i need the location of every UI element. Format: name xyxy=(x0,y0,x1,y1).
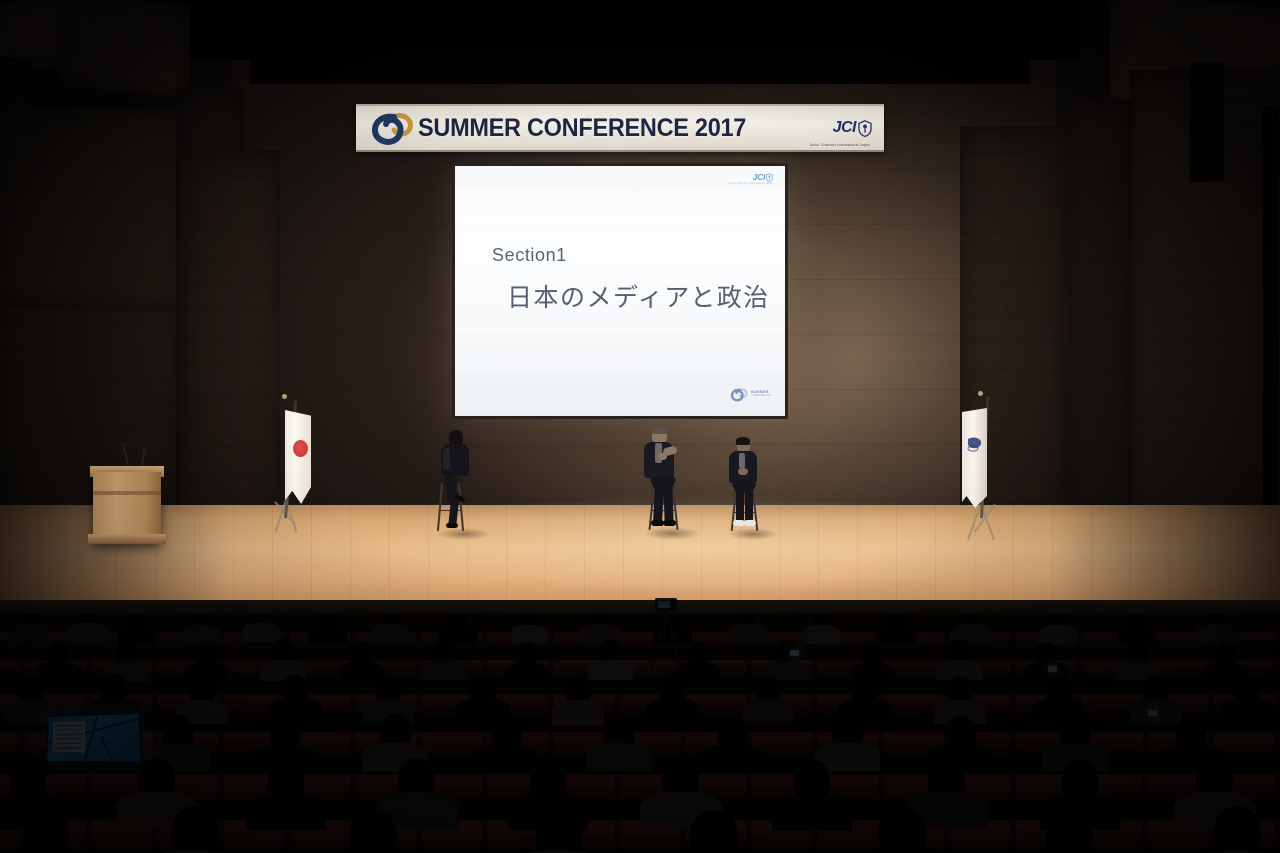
audience-shoulders xyxy=(552,700,604,725)
audience-shoulders xyxy=(308,626,348,644)
speaker-right-hair xyxy=(736,437,750,445)
audience-shoulders xyxy=(742,699,794,723)
projection-screen: JCI Junior Chamber International Japan S… xyxy=(455,166,785,416)
speaker-center-hand-mic xyxy=(658,453,667,460)
japan-flag-stand xyxy=(252,388,332,538)
audience-head xyxy=(1046,810,1092,853)
video-camera-body xyxy=(655,598,677,611)
audience-shoulders xyxy=(420,661,466,681)
audience-shoulders xyxy=(586,743,652,772)
video-camera-lcd-screen xyxy=(658,601,670,608)
speaker-left-shadow xyxy=(438,528,490,540)
speaker-right-leg-lower-left xyxy=(736,490,744,523)
banner-org-fullname: Junior Chamber International Japan xyxy=(809,143,870,147)
audience-head xyxy=(690,810,738,853)
slide-jci-logo: JCI xyxy=(753,172,773,182)
audience-shoulders xyxy=(588,660,634,680)
laptop-screen-line xyxy=(101,736,119,764)
summer-conference-swirl-icon xyxy=(370,111,414,145)
speaker-left-arm xyxy=(443,448,450,470)
audience-head xyxy=(862,642,883,665)
banner-jci-wordmark: JCI xyxy=(833,119,856,137)
audience-shoulders xyxy=(36,662,81,682)
laptop-document xyxy=(52,721,85,753)
wall-panel-right-dark-notch xyxy=(1190,62,1224,182)
speaker-right-shadow xyxy=(728,528,778,540)
japan-flag-cloth xyxy=(285,410,311,504)
audience-shoulders xyxy=(1220,698,1274,722)
stage-banner: SUMMER CONFERENCE 2017 JCI Junior Chambe… xyxy=(356,104,884,152)
wall-panel-left-angled xyxy=(0,107,184,314)
slide-footer-logo: SUMMER CONFERENCE xyxy=(730,387,771,402)
audience-area xyxy=(0,614,1280,853)
audience-shoulders xyxy=(772,794,852,831)
phone-screen-glow xyxy=(1048,666,1057,672)
speaker-right-leg-lower-right xyxy=(745,490,753,523)
jci-flag-cloth xyxy=(962,408,987,508)
conference-hall-photo: SUMMER CONFERENCE 2017 JCI Junior Chambe… xyxy=(0,0,1280,853)
audience-head xyxy=(196,642,217,665)
jci-shield-icon xyxy=(858,120,872,137)
slide-jci-wordmark: JCI xyxy=(753,172,765,182)
audience-head xyxy=(516,642,537,665)
audience-head xyxy=(190,676,215,703)
audience-shoulders xyxy=(504,663,549,684)
speaker-center-leg-lower-right xyxy=(663,485,673,523)
speaker-right xyxy=(722,438,782,540)
ceiling-shadow xyxy=(180,0,1080,60)
audience-shoulders xyxy=(1196,624,1236,642)
audience-shoulders xyxy=(372,624,410,642)
slide-jci-sublabel: Junior Chamber International Japan xyxy=(728,182,773,185)
projection-screen-frame: JCI Junior Chamber International Japan S… xyxy=(452,163,788,419)
audience-shoulders xyxy=(474,744,538,772)
jci-flag-finial xyxy=(978,391,983,396)
stool-leg xyxy=(437,483,443,531)
audience-shoulders xyxy=(728,624,768,642)
audience-head xyxy=(1216,642,1237,665)
slide-heading: 日本のメディアと政治 xyxy=(507,278,770,314)
audience-head xyxy=(536,806,582,853)
slide-section-label: Section1 xyxy=(492,245,567,266)
speaker-left-shoe xyxy=(446,523,458,528)
podium-trim xyxy=(93,491,161,495)
speaker-right-hands xyxy=(738,468,748,475)
audience-head xyxy=(566,676,591,703)
speaker-center-leg-lower-left xyxy=(653,485,664,523)
speaker-right-sneaker-right xyxy=(744,520,756,526)
audience-shoulders xyxy=(802,625,840,644)
speaker-left xyxy=(432,430,492,540)
slide-footer-logo-sub: CONFERENCE xyxy=(751,395,771,398)
jci-flag-stand xyxy=(950,388,1030,540)
audience-head xyxy=(22,814,68,853)
phone-screen-glow xyxy=(1148,710,1157,716)
audience-shoulders xyxy=(510,625,548,643)
speaker-center-hair xyxy=(652,427,667,434)
speaker-center-shadow xyxy=(644,527,700,540)
audience-head xyxy=(1214,806,1260,853)
podium-base xyxy=(88,534,166,544)
jci-flag-emblem-icon xyxy=(966,434,983,454)
slide-summer-conference-swirl-icon xyxy=(730,387,748,402)
audience-head xyxy=(948,676,973,703)
audience-laptop xyxy=(45,712,138,766)
wall-panel-left-upper xyxy=(60,0,190,98)
japan-flag-finial xyxy=(282,394,287,399)
speaker-right-shirt xyxy=(739,453,745,468)
ceiling-shadow-secondary xyxy=(250,52,1030,84)
slide-footer-logo-text: SUMMER CONFERENCE xyxy=(751,391,771,398)
banner-jci-logo: JCI xyxy=(833,119,872,137)
stool-leg xyxy=(458,483,464,531)
banner-title: SUMMER CONFERENCE 2017 xyxy=(418,114,808,143)
audience-shoulders xyxy=(876,627,916,645)
laptop-screen xyxy=(46,712,143,764)
audience-shoulders xyxy=(68,623,108,641)
phone-screen-glow xyxy=(790,650,799,656)
speaker-center xyxy=(638,427,704,540)
audience-shoulders xyxy=(180,625,220,643)
audience-head xyxy=(350,810,396,853)
japan-flag-sun-disc-icon xyxy=(293,440,308,457)
audience-head xyxy=(880,806,926,853)
audience-shoulders xyxy=(700,745,764,773)
audience-shoulders xyxy=(246,794,326,830)
speaker-center-shoe-right xyxy=(663,520,676,526)
audience-shoulders xyxy=(242,623,280,642)
audience-head xyxy=(172,806,218,853)
audience-shoulders xyxy=(646,698,700,722)
audience-shoulders xyxy=(12,624,50,642)
slide-jci-shield-icon xyxy=(766,173,773,182)
